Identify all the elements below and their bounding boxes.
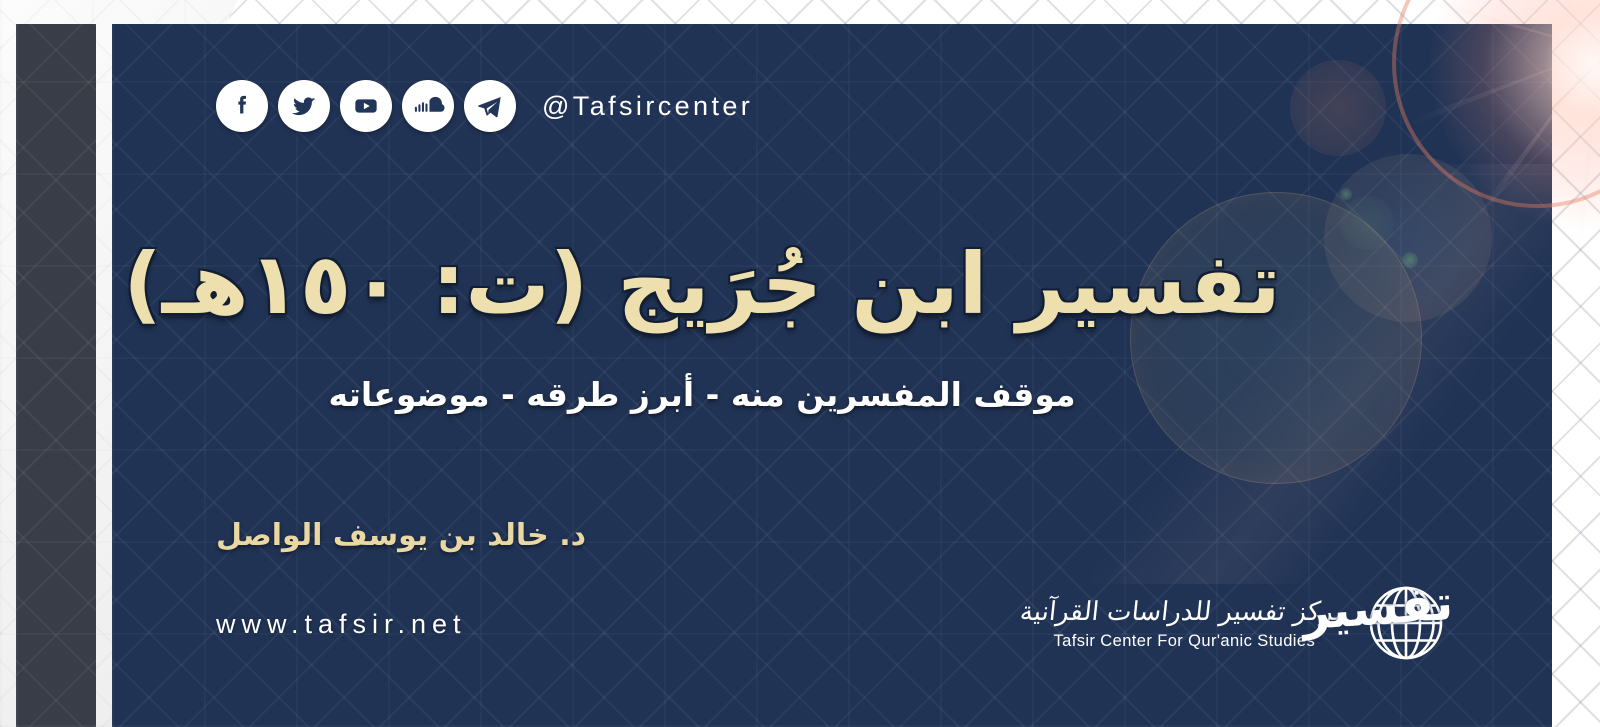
logo-text-block: مركز تفسير للدراسات القرآنية Tafsir Cent… [1020,595,1349,651]
soundcloud-icon[interactable] [402,80,454,132]
telegram-icon[interactable] [464,80,516,132]
page-subtitle: موقف المفسرين منه - أبرز طرقه - موضوعاته [112,375,1292,414]
poster-content: @Tafsircenter تفسير ابن جُرَيج (ت: ١٥٠هـ… [0,0,1600,727]
social-handle-text: @Tafsircenter [542,91,753,122]
globe-icon: تفسير [1363,580,1449,666]
youtube-icon[interactable] [340,80,392,132]
logo-english-name: Tafsir Center For Qur'anic Studies [1020,632,1349,651]
logo-globe-calligraphy: تفسير [1300,579,1454,637]
twitter-icon[interactable] [278,80,330,132]
website-url[interactable]: www.tafsir.net [216,609,467,640]
author-name: د. خالد بن يوسف الواصل [216,518,586,553]
facebook-icon[interactable] [216,80,268,132]
page-title: تفسير ابن جُرَيج (ت: ١٥٠هـ) [112,232,1292,337]
tafsir-center-logo[interactable]: مركز تفسير للدراسات القرآنية Tafsir Cent… [1020,580,1449,666]
poster-canvas: @Tafsircenter تفسير ابن جُرَيج (ت: ١٥٠هـ… [0,0,1600,727]
social-links-row: @Tafsircenter [216,80,753,132]
